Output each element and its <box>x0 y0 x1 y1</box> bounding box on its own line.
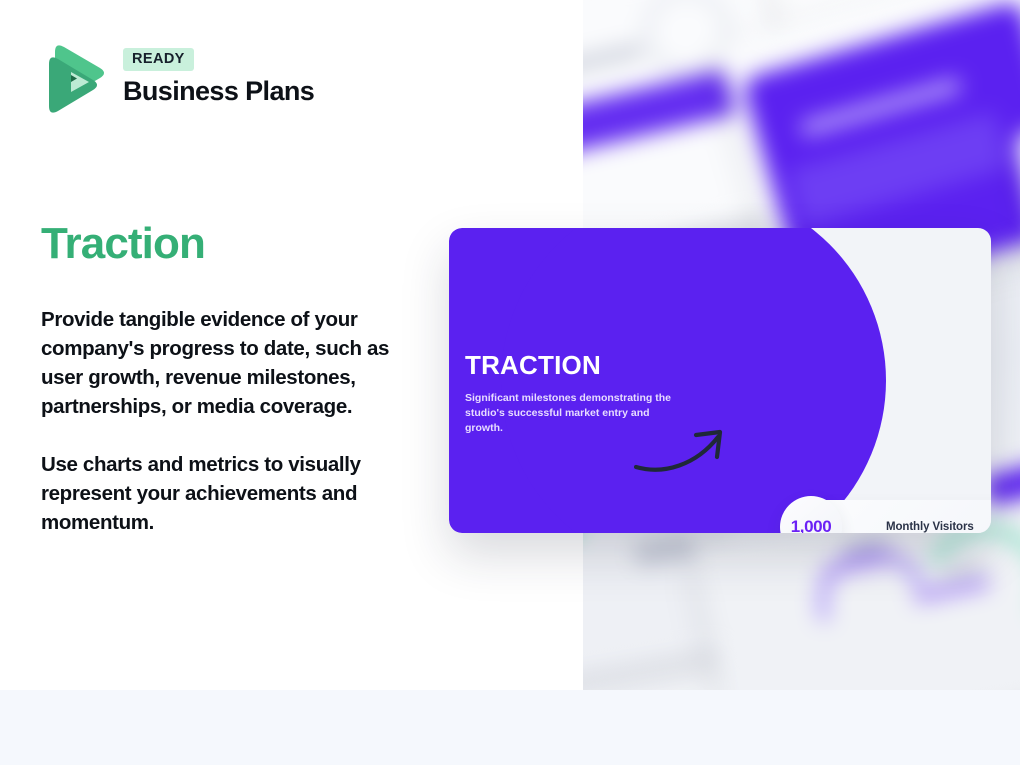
body-paragraph-1: Provide tangible evidence of your compan… <box>41 305 431 421</box>
page-title: Traction <box>41 219 205 269</box>
ready-badge: READY <box>123 48 194 71</box>
metric-value: 1,000 <box>791 517 832 533</box>
play-triangle-logo-icon <box>41 38 107 116</box>
curved-arrow-up-right-icon <box>634 413 744 483</box>
brand-name: Business Plans <box>123 76 314 107</box>
body-copy: Provide tangible evidence of your compan… <box>41 305 431 537</box>
metric-label: Monthly Visitors <box>886 520 974 533</box>
brand-text: READY Business Plans <box>123 48 314 107</box>
bottom-strip <box>0 690 1020 765</box>
brand-logo-block: READY Business Plans <box>41 38 314 116</box>
body-paragraph-2: Use charts and metrics to visually repre… <box>41 450 431 537</box>
slide-panel-title: TRACTION <box>465 350 680 381</box>
slide-preview-card[interactable]: TRACTION Significant milestones demonstr… <box>449 228 991 533</box>
